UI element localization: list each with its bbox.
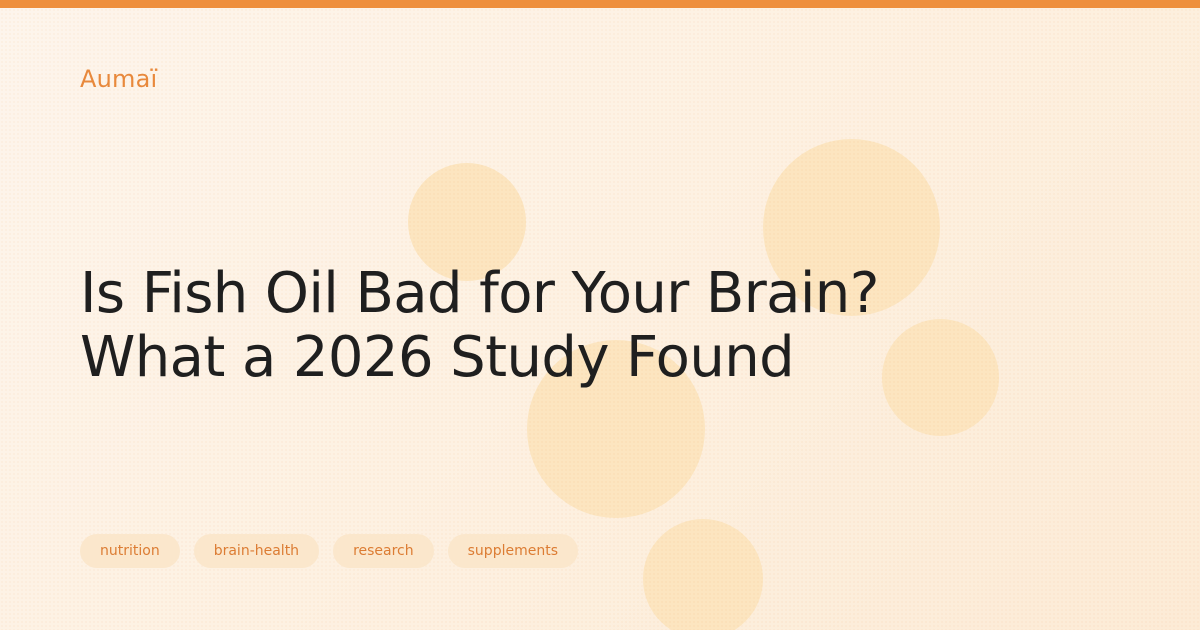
card-content: Aumaï Is Fish Oil Bad for Your Brain? Wh… xyxy=(0,0,1200,630)
social-share-card: Aumaï Is Fish Oil Bad for Your Brain? Wh… xyxy=(0,0,1200,630)
tag-pill[interactable]: research xyxy=(333,534,434,568)
page-title: Is Fish Oil Bad for Your Brain? What a 2… xyxy=(80,262,980,390)
tag-pill[interactable]: nutrition xyxy=(80,534,180,568)
tag-pill[interactable]: supplements xyxy=(448,534,578,568)
brand-wordmark[interactable]: Aumaï xyxy=(80,64,157,94)
top-accent-bar xyxy=(0,0,1200,8)
tag-list: nutrition brain-health research suppleme… xyxy=(80,534,578,568)
tag-pill[interactable]: brain-health xyxy=(194,534,319,568)
